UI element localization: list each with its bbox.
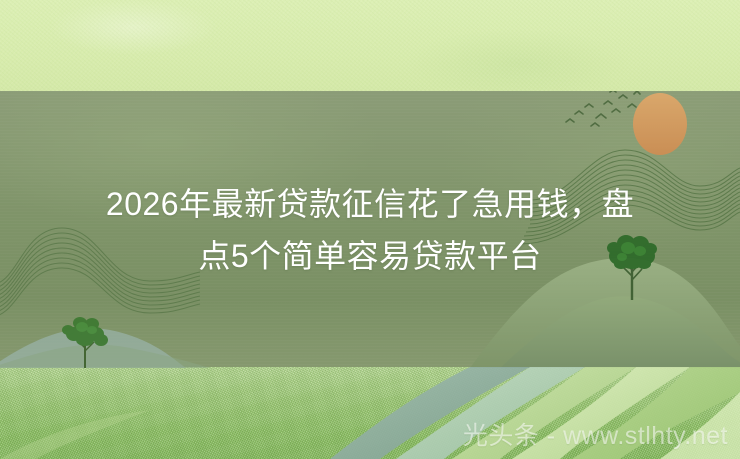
title-line-1: 2026年最新贷款征信花了急用钱，盘 <box>28 178 712 230</box>
sky-band <box>0 0 740 91</box>
poster-image: 2026年最新贷款征信花了急用钱，盘 点5个简单容易贷款平台 光头条 - www… <box>0 0 740 459</box>
poster-title: 2026年最新贷款征信花了急用钱，盘 点5个简单容易贷款平台 <box>0 178 740 282</box>
watermark-text: 光头条 - www.stlhty.net <box>463 421 728 451</box>
title-line-2: 点5个简单容易贷款平台 <box>28 230 712 282</box>
